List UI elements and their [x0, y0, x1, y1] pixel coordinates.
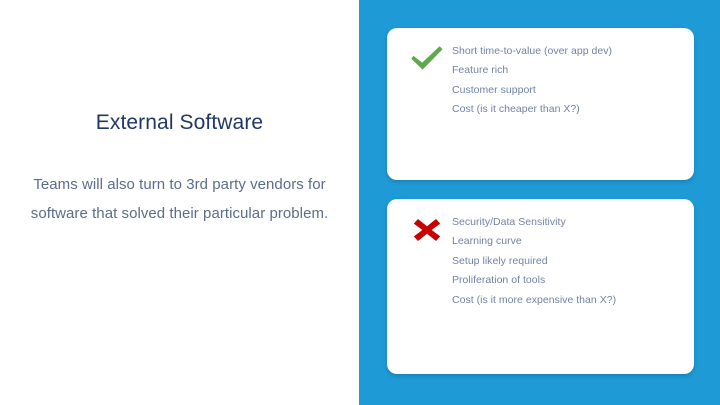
page-title: External Software — [0, 110, 359, 136]
list-item: Security/Data Sensitivity — [452, 213, 686, 232]
list-item: Setup likely required — [452, 252, 686, 271]
list-item: Customer support — [452, 81, 686, 100]
pros-card: Short time-to-value (over app dev) Featu… — [387, 28, 694, 180]
check-icon — [408, 42, 446, 74]
cons-card: Security/Data Sensitivity Learning curve… — [387, 199, 694, 374]
slide-root: External Software Teams will also turn t… — [0, 0, 720, 405]
pros-list: Short time-to-value (over app dev) Featu… — [452, 42, 686, 120]
list-item: Cost (is it cheaper than X?) — [452, 100, 686, 119]
list-item: Proliferation of tools — [452, 271, 686, 290]
cross-icon — [408, 213, 446, 245]
list-item: Learning curve — [452, 232, 686, 251]
list-item: Cost (is it more expensive than X?) — [452, 291, 686, 310]
list-item: Short time-to-value (over app dev) — [452, 42, 686, 61]
cons-list: Security/Data Sensitivity Learning curve… — [452, 213, 686, 310]
left-content-column: External Software Teams will also turn t… — [0, 0, 359, 405]
slide-description: Teams will also turn to 3rd party vendor… — [26, 170, 333, 228]
list-item: Feature rich — [452, 61, 686, 80]
